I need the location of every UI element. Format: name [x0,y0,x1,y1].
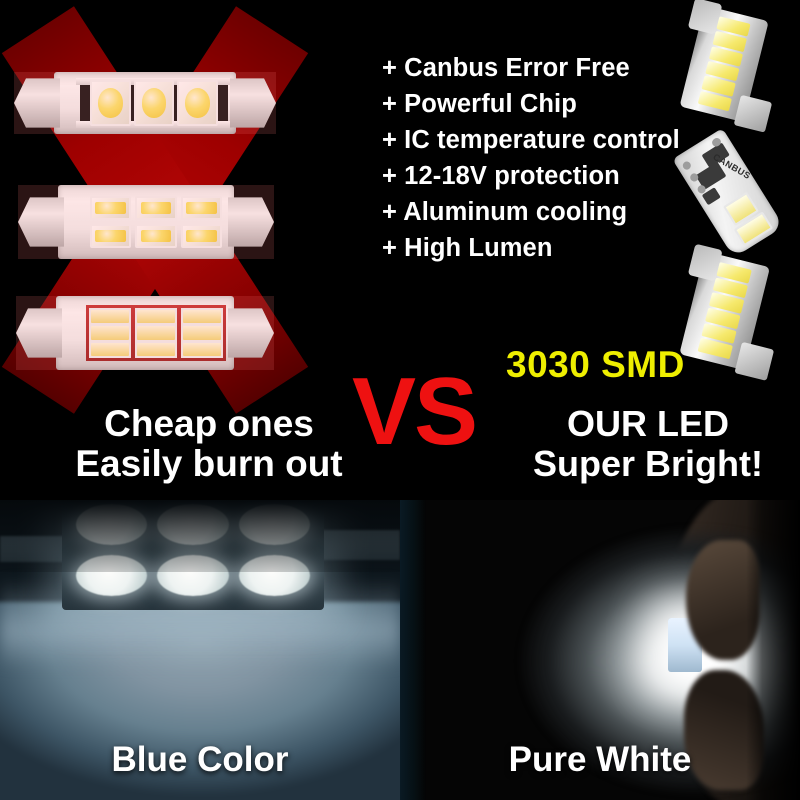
caption-blue-color: Blue Color [0,740,400,780]
feature-item: + Powerful Chip [382,88,682,122]
our-led-heading: OUR LED Super Bright! [498,404,798,483]
feature-item: + IC temperature control [382,124,682,158]
product-festoon-bulb-top [663,0,794,135]
feature-item: + Canbus Error Free [382,52,682,86]
cheap-bulb-6-smd [18,185,274,259]
feature-item: + High Lumen [382,232,682,266]
top-comparison-panel: + Canbus Error Free + Powerful Chip + IC… [0,0,800,500]
cheap-heading: Cheap ones Easily burn out [44,404,374,484]
cheap-heading-line1: Cheap ones [44,404,374,444]
feature-list: + Canbus Error Free + Powerful Chip + IC… [382,52,682,267]
smd-type-label: 3030 SMD [506,344,685,386]
cheap-bulb-9-smd [16,296,274,370]
product-comparison-image: + Canbus Error Free + Powerful Chip + IC… [0,0,800,800]
cheap-heading-line2: Easily burn out [44,444,374,484]
feature-item: + Aluminum cooling [382,196,682,230]
cheap-bulb-3-smd [14,72,276,134]
our-led-heading-line2: Super Bright! [498,444,798,484]
caption-pure-white: Pure White [400,740,800,780]
feature-item: + 12-18V protection [382,160,682,194]
our-led-heading-line1: OUR LED [498,404,798,444]
